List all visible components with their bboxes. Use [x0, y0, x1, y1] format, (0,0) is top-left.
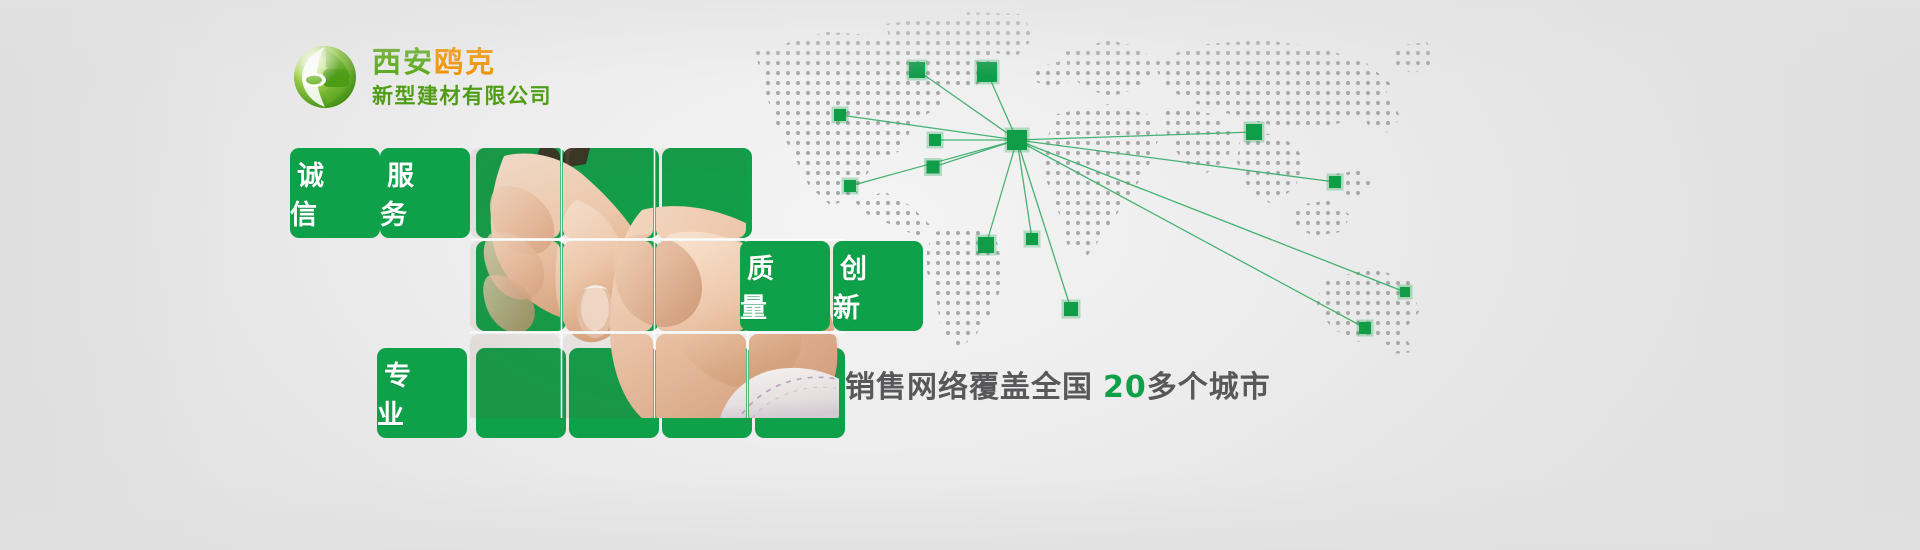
- tile-integrity[interactable]: 诚 信: [290, 148, 380, 238]
- tile-blank: [476, 348, 566, 438]
- tile-blank: [569, 148, 659, 238]
- map-marker[interactable]: [1329, 176, 1341, 188]
- company-logo[interactable]: 西安鸥克 新型建材有限公司: [292, 44, 552, 110]
- map-marker[interactable]: [1064, 302, 1078, 316]
- tile-professional[interactable]: 专 业: [377, 348, 467, 438]
- logo-line-1: 西安鸥克: [372, 48, 552, 77]
- map-marker[interactable]: [1007, 130, 1027, 150]
- tile-quality[interactable]: 质 量: [740, 241, 830, 331]
- logo-city: 西安: [372, 45, 434, 79]
- tile-blank: [569, 348, 659, 438]
- map-marker[interactable]: [834, 109, 846, 121]
- map-marker[interactable]: [1026, 233, 1038, 245]
- map-marker[interactable]: [929, 134, 941, 146]
- company-banner: 诚 信 服 务 质 量 创 新 专 业: [0, 0, 1920, 550]
- tagline-number: 20: [1103, 370, 1147, 405]
- logo-line-2: 新型建材有限公司: [372, 86, 552, 107]
- tile-service[interactable]: 服 务: [380, 148, 470, 238]
- map-marker[interactable]: [977, 62, 997, 82]
- tile-mosaic: 诚 信 服 务 质 量 创 新 专 业: [290, 148, 905, 418]
- tile-blank: [662, 148, 752, 238]
- tile-blank: [476, 241, 566, 331]
- tile-blank: [662, 348, 752, 438]
- tile-innovation[interactable]: 创 新: [833, 241, 923, 331]
- tile-blank: [476, 148, 566, 238]
- map-marker[interactable]: [1400, 287, 1410, 297]
- map-marker[interactable]: [909, 62, 925, 78]
- map-marker[interactable]: [1359, 322, 1371, 334]
- map-marker[interactable]: [927, 161, 940, 174]
- tagline-text-before: 销售网络覆盖全国: [845, 370, 1093, 405]
- tile-blank: [755, 348, 845, 438]
- map-marker[interactable]: [1246, 124, 1262, 140]
- green-globe-icon: [292, 44, 358, 110]
- tagline: 销售网络覆盖全国20多个城市: [845, 362, 1271, 406]
- tagline-text-after: 多个城市: [1147, 370, 1271, 405]
- tile-blank: [569, 241, 659, 331]
- tile-blank: [662, 241, 752, 331]
- logo-brand: 鸥克: [434, 45, 496, 79]
- map-marker[interactable]: [978, 237, 994, 253]
- logo-wordmark: 西安鸥克 新型建材有限公司: [372, 48, 552, 107]
